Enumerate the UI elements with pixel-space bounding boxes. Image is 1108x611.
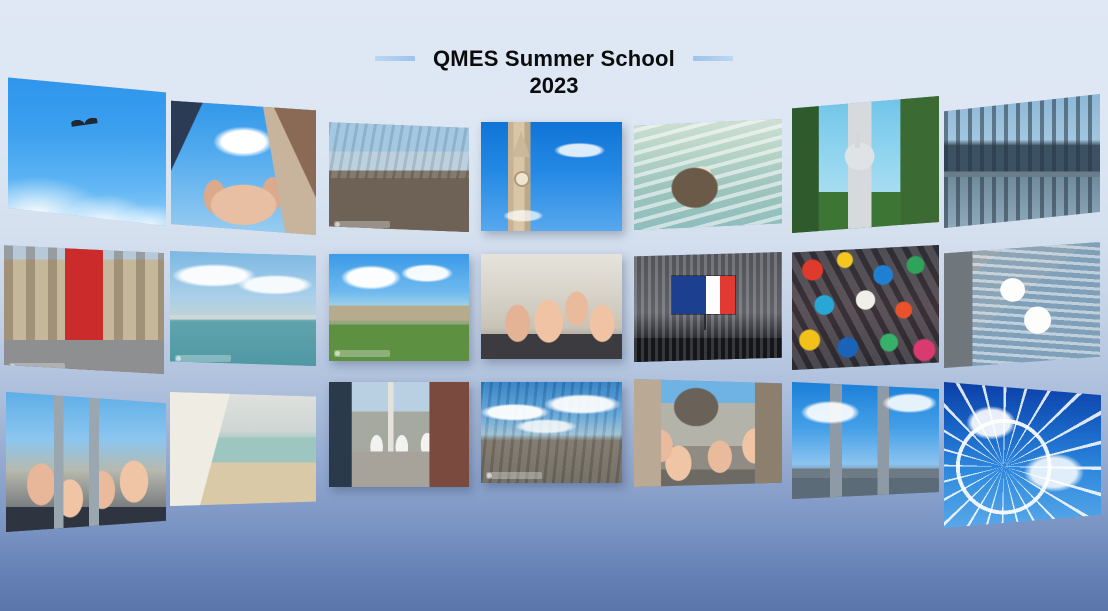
photo-14-image	[944, 242, 1100, 368]
slide-canvas: QMES Summer School 2023	[0, 0, 1108, 611]
gallery-photo-5[interactable]	[634, 119, 782, 230]
gallery-photo-11[interactable]	[481, 254, 622, 359]
gallery-photo-3[interactable]	[329, 120, 469, 232]
photo-16-image	[170, 392, 316, 506]
gallery-photo-8[interactable]	[4, 244, 164, 374]
gallery-photo-14[interactable]	[944, 242, 1100, 368]
photo-7-image	[944, 94, 1100, 228]
gallery-photo-10[interactable]	[329, 254, 469, 361]
page-title: QMES Summer School	[433, 46, 675, 72]
gallery-photo-19[interactable]	[634, 379, 782, 487]
gallery-photo-15[interactable]	[6, 392, 166, 532]
gallery-photo-7[interactable]	[944, 94, 1100, 228]
gallery-photo-16[interactable]	[170, 392, 316, 506]
photo-10-watermark	[334, 350, 390, 357]
photo-11-image	[481, 254, 622, 359]
photo-20-image	[792, 382, 939, 499]
photo-8-image	[4, 244, 164, 374]
gallery-photo-18[interactable]	[481, 382, 622, 483]
photo-15-image	[6, 392, 166, 532]
gallery-photo-17[interactable]	[329, 382, 469, 487]
photo-9-watermark	[175, 355, 231, 362]
cathedral-dome-top	[855, 132, 860, 148]
photo-18-image	[481, 382, 622, 483]
photo-10-image	[329, 254, 469, 361]
title-rule-right-decoration	[693, 56, 733, 61]
page-title-year: 2023	[0, 73, 1108, 99]
photo-9-image	[170, 250, 316, 366]
photo-3-watermark	[334, 221, 390, 228]
photo-6-image	[792, 96, 939, 233]
gallery-photo-2[interactable]	[171, 98, 316, 235]
clock-tower-spire	[512, 131, 530, 157]
presentation-screen	[672, 276, 734, 313]
photo-4-image	[481, 122, 622, 231]
photo-19-image	[634, 379, 782, 487]
photo-3-image	[329, 120, 469, 232]
title-rule-left-decoration	[375, 56, 415, 61]
gallery-photo-12[interactable]	[634, 252, 782, 362]
photo-13-image	[792, 245, 939, 370]
title-primary-row: QMES Summer School	[0, 46, 1108, 72]
gallery-photo-4[interactable]	[481, 122, 622, 231]
photo-8-watermark	[9, 363, 65, 370]
gallery-photo-9[interactable]	[170, 250, 316, 366]
photo-2-image	[171, 98, 316, 235]
photo-21-image	[944, 382, 1101, 528]
photo-5-image	[634, 119, 782, 230]
slide-title-block: QMES Summer School 2023	[0, 46, 1108, 99]
gallery-photo-6[interactable]	[792, 96, 939, 233]
gallery-photo-13[interactable]	[792, 245, 939, 370]
photo-18-watermark	[486, 472, 542, 479]
gallery-photo-20[interactable]	[792, 382, 939, 499]
photo-17-image	[329, 382, 469, 487]
gallery-photo-21[interactable]	[944, 382, 1101, 528]
